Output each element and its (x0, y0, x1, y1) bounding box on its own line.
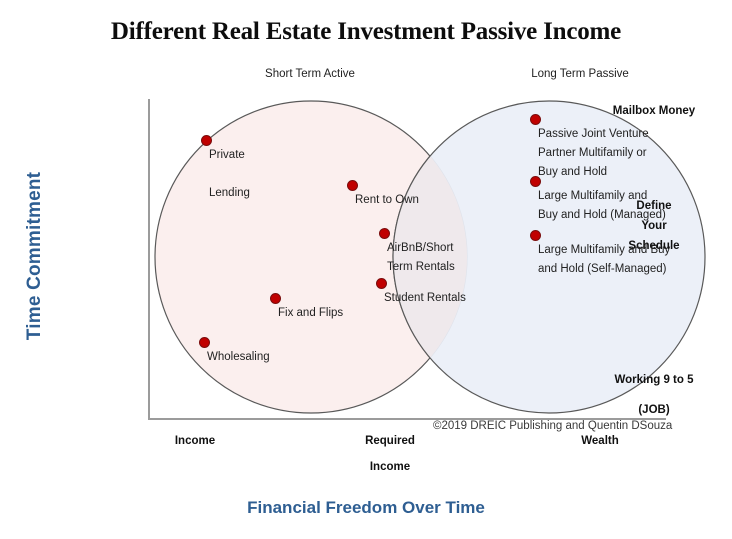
page-title: Different Real Estate Investment Passive… (0, 18, 732, 46)
passive-income-venn-chart: Different Real Estate Investment Passive… (0, 0, 732, 539)
y-axis-title: Time Commitment (24, 141, 46, 371)
data-point-label-rent-to-own: Rent to Own (355, 191, 419, 210)
data-point-large-multifamily-and-buy-and-hold-self-manage (530, 230, 541, 241)
data-point-label-student-rentals: Student Rentals (384, 289, 466, 308)
x-tick-income: Income (140, 431, 250, 451)
data-point-label-passive-joint-venture-partner-multifamily-or-b: Passive Joint Venture Partner Multifamil… (538, 125, 649, 182)
y-tick-mailbox-money: Mailbox Money (584, 101, 732, 121)
y-tick-working-line2: (JOB) (584, 400, 724, 420)
data-point-student-rentals (376, 278, 387, 289)
data-point-private-lending (201, 135, 212, 146)
x-tick-required-line2: Income (330, 457, 450, 477)
x-tick-required-income: Required Income (330, 431, 450, 477)
copyright-notice: ©2019 DREIC Publishing and Quentin DSouz… (433, 419, 672, 434)
data-point-label-large-multifamily-and-buy-and-hold-managed: Large Multifamily and Buy and Hold (Mana… (538, 187, 666, 225)
y-axis-line (148, 99, 150, 419)
y-tick-working-line1: Working 9 to 5 (584, 370, 724, 390)
data-point-wholesaling (199, 337, 210, 348)
data-point-fix-and-flips (270, 293, 281, 304)
data-point-label-airbnb-short-term-rentals: AirBnB/Short Term Rentals (387, 239, 455, 277)
x-tick-wealth: Wealth (545, 431, 655, 451)
y-tick-working-9-to-5: Working 9 to 5 (JOB) (584, 370, 732, 420)
left-circle-caption: Short Term Active (200, 67, 420, 82)
x-axis-title: Financial Freedom Over Time (0, 498, 732, 518)
data-point-label-large-multifamily-and-buy-and-hold-self-manage: Large Multifamily and Buy and Hold (Self… (538, 241, 670, 279)
data-point-passive-joint-venture-partner-multifamily-or-b (530, 114, 541, 125)
right-circle-caption: Long Term Passive (470, 67, 690, 82)
data-point-label-private-lending: Private Lending (209, 146, 250, 203)
data-point-rent-to-own (347, 180, 358, 191)
data-point-airbnb-short-term-rentals (379, 228, 390, 239)
data-point-label-fix-and-flips: Fix and Flips (278, 304, 343, 323)
data-point-large-multifamily-and-buy-and-hold-managed (530, 176, 541, 187)
data-point-label-wholesaling: Wholesaling (207, 348, 270, 367)
x-tick-required-line1: Required (330, 431, 450, 451)
